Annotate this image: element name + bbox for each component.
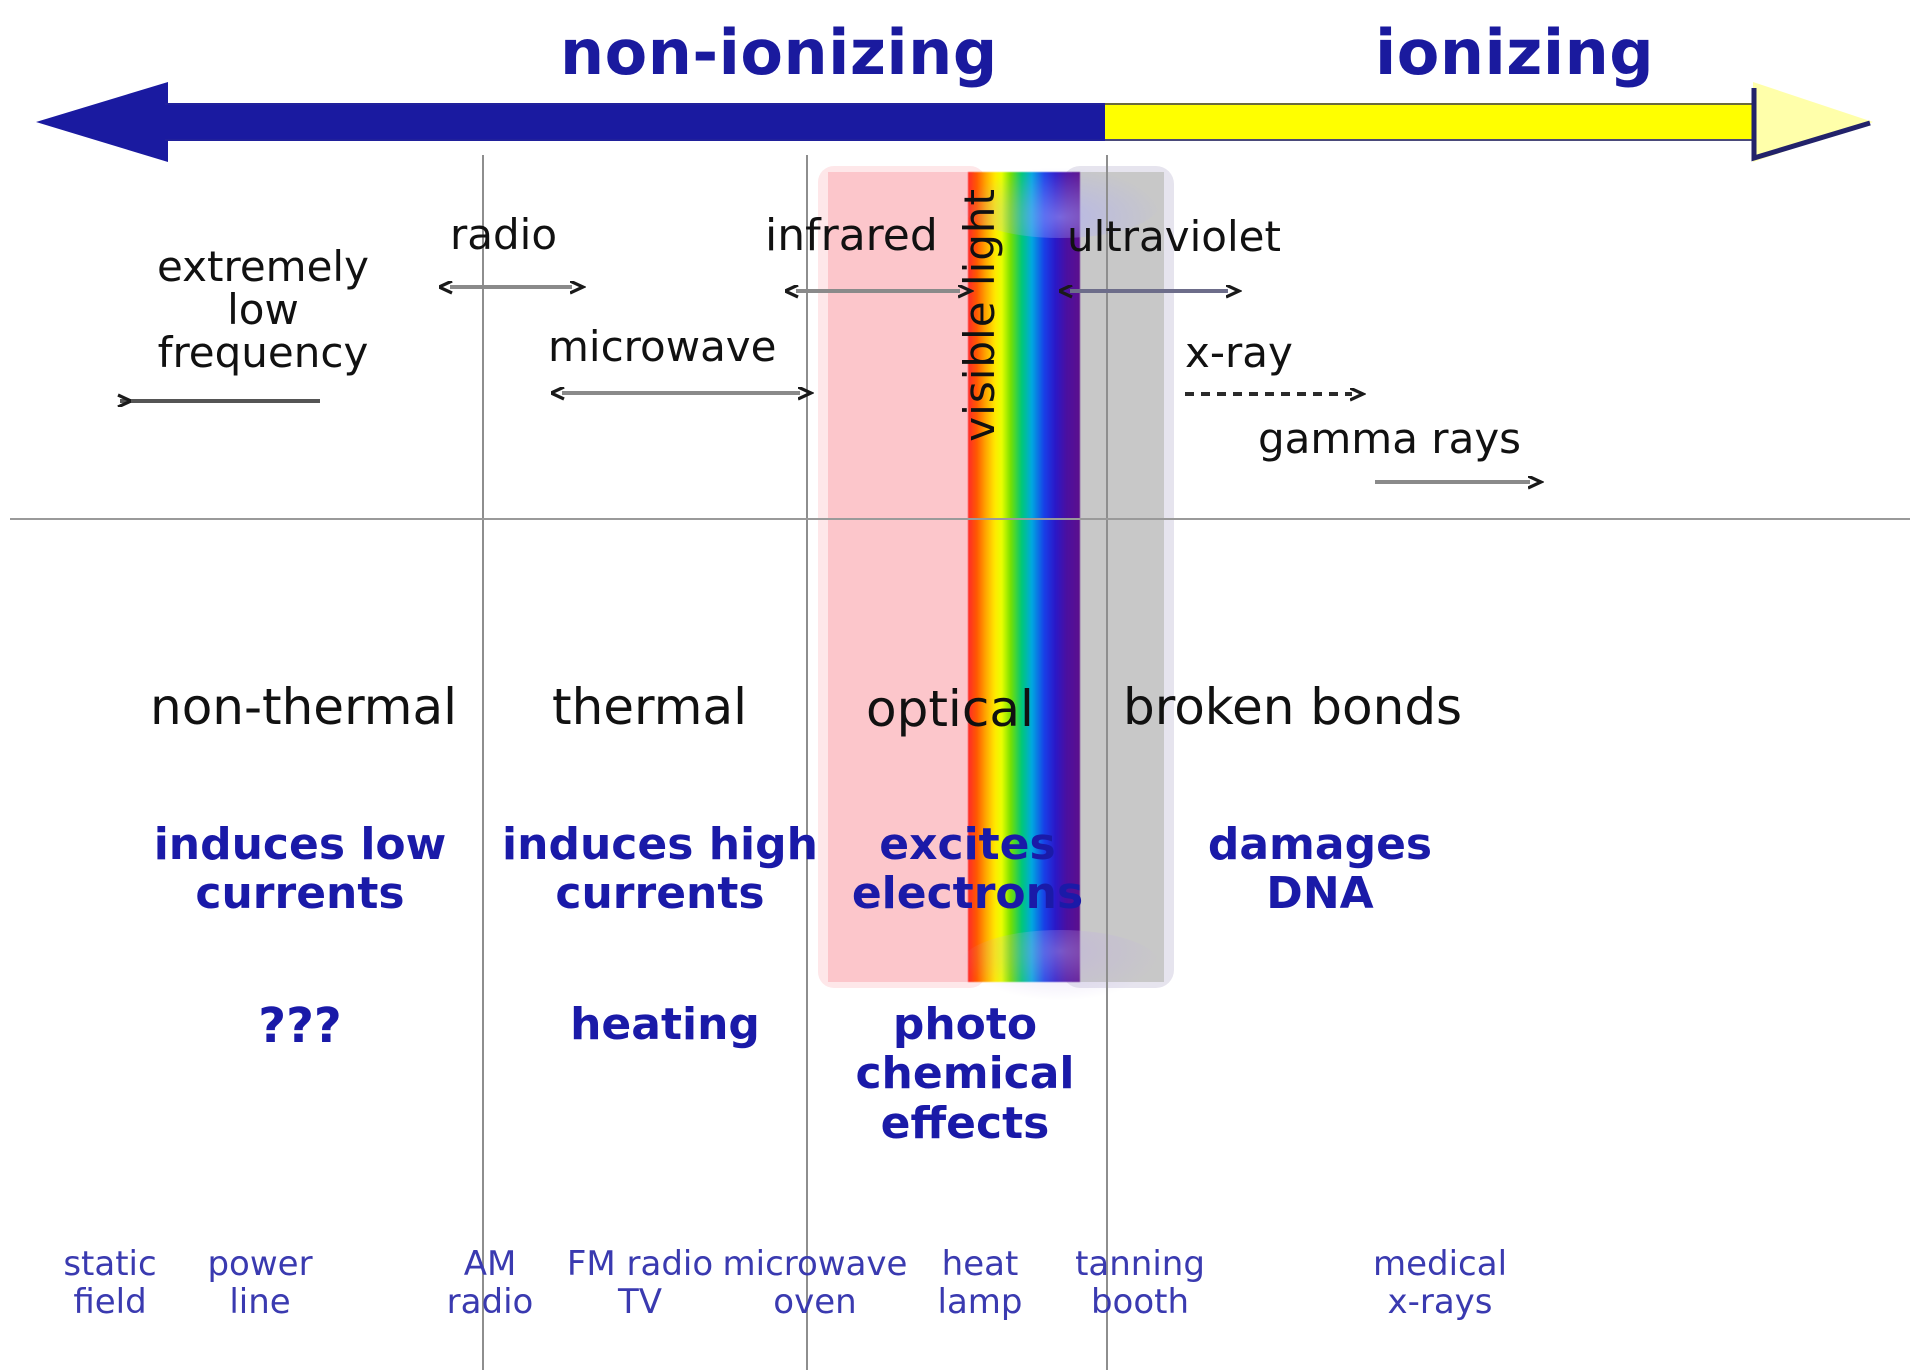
band-label-ultraviolet: ultraviolet [1067,212,1281,261]
divider-radio [482,155,484,1370]
non-ionizing-arrow-shaft [165,103,1110,141]
effect-title-thermal: thermal [552,678,747,736]
source-label-microwave-oven: microwave oven [700,1245,930,1321]
divider-ionizing [1106,155,1108,1370]
source-label-heat-lamp: heat lamp [905,1245,1055,1321]
source-label-power-line: power line [175,1245,345,1321]
effect-title-non-thermal: non-thermal [150,678,457,736]
band-label-visible-light: visible light [955,188,1004,442]
band-glow-bottom [960,930,1160,1000]
effect-sub-unknown: ??? [190,1000,410,1054]
divider-infrared [806,155,808,1370]
effect-sub-damages-dna: damages DNA [1160,820,1480,919]
banner-label-ionizing: ionizing [1375,16,1654,89]
source-label-medical-x-rays: medical x-rays [1340,1245,1540,1321]
banner-label-non-ionizing: non-ionizing [560,16,998,89]
band-label-x-ray: x-ray [1185,328,1293,377]
mid-divider [10,518,1910,520]
source-label-static-field: static field [30,1245,190,1321]
spectrum-arrow-head-right-outline [1750,84,1874,162]
effect-title-optical: optical [866,680,1034,738]
source-label-tanning-booth: tanning booth [1040,1245,1240,1321]
effect-sub-induces-high-currents: induces high currents [500,820,820,919]
source-label-am-radio: AM radio [420,1245,560,1321]
effect-sub-photochemical-effects: photo chemical effects [840,1000,1090,1148]
ionizing-arrow-shaft [1105,103,1805,141]
effect-sub-induces-low-currents: induces low currents [130,820,470,919]
spectrum-arrow-head-left [36,82,168,162]
band-label-microwave: microwave [548,322,777,371]
effect-title-broken-bonds: broken bonds [1123,678,1462,736]
band-label-extremely-low-frequency: extremely low frequency [128,246,398,374]
band-label-radio: radio [450,210,557,259]
effect-sub-excites-electrons: excites electrons [845,820,1090,919]
effect-sub-heating: heating [545,1000,785,1049]
band-label-gamma-rays: gamma rays [1258,414,1521,463]
band-label-infrared: infrared [765,210,938,261]
em-spectrum-diagram: non-ionizing ionizing extremely low freq… [0,0,1920,1371]
